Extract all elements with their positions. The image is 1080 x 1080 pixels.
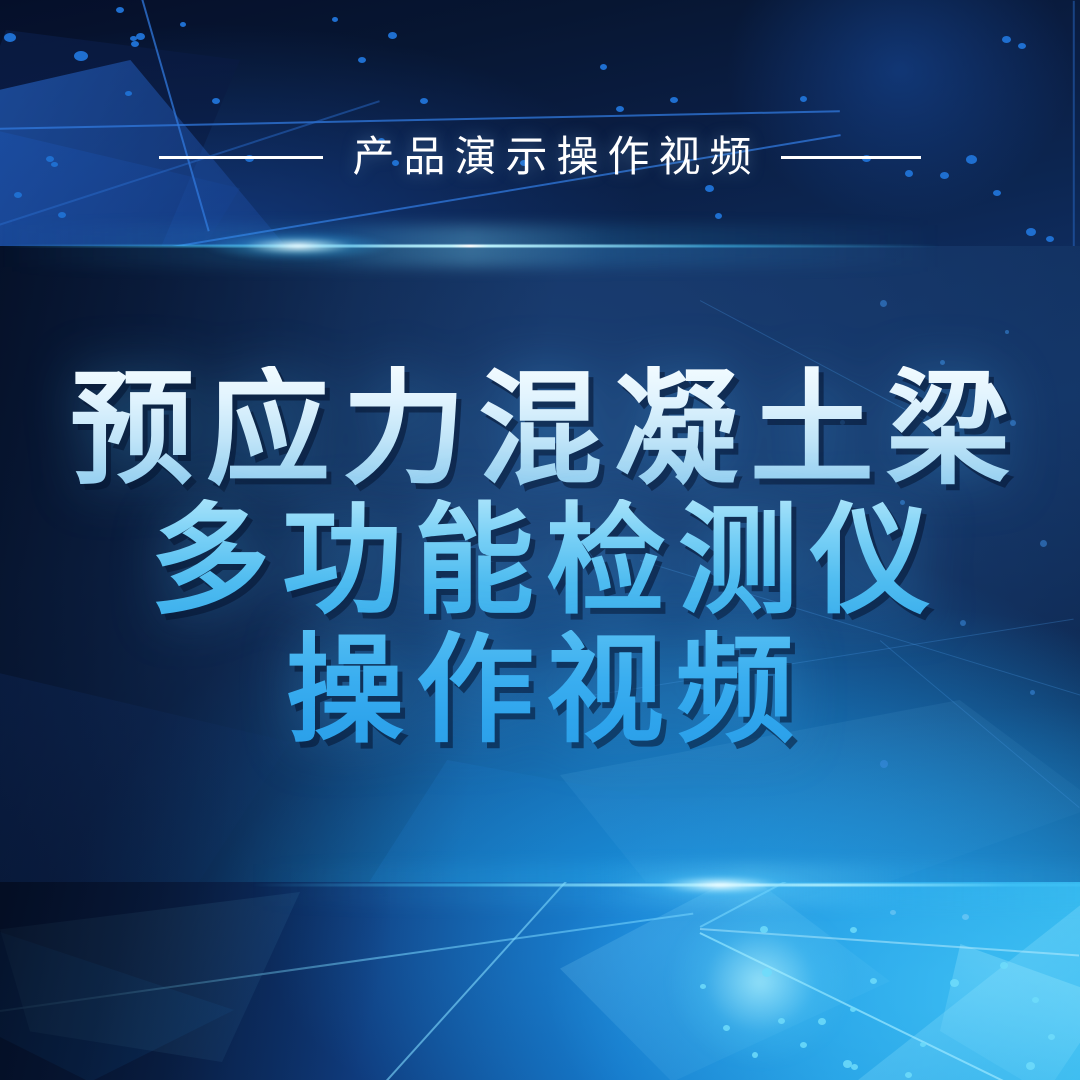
dot xyxy=(752,1052,758,1058)
title-line-1: 预应力混凝土梁 xyxy=(0,366,1080,495)
dot xyxy=(600,64,607,70)
dot xyxy=(1002,36,1011,43)
dot xyxy=(388,32,397,39)
header-title: 产品演示操作视频 xyxy=(343,136,760,178)
dot xyxy=(890,910,896,915)
dot xyxy=(420,98,428,104)
bottom-ray-glow xyxy=(640,882,880,1080)
dot xyxy=(905,1072,912,1078)
poster-canvas: 产品演示操作视频 预应力混凝土梁 多功能检测仪 操作视频 xyxy=(0,0,1080,1080)
dot xyxy=(212,98,220,104)
dot xyxy=(920,1042,926,1047)
dot xyxy=(993,190,1001,196)
dot xyxy=(880,760,888,768)
main-title: 预应力混凝土梁 多功能检测仪 操作视频 xyxy=(0,366,1080,752)
dot xyxy=(116,7,124,13)
dot xyxy=(1048,1034,1055,1040)
header: 产品演示操作视频 xyxy=(0,124,1080,190)
dot xyxy=(616,106,624,112)
dot xyxy=(851,1064,858,1070)
dot xyxy=(358,57,366,63)
dot xyxy=(74,51,88,61)
dot xyxy=(332,17,338,22)
dot xyxy=(800,96,807,102)
dot xyxy=(715,213,722,219)
bottom-band xyxy=(0,882,1080,1080)
title-line-3: 操作视频 xyxy=(0,630,1080,753)
dot xyxy=(1018,43,1026,49)
dot xyxy=(1026,228,1036,236)
dot xyxy=(700,984,706,989)
dot xyxy=(850,1007,856,1012)
dot xyxy=(131,41,139,47)
dot xyxy=(136,33,145,40)
dot xyxy=(670,97,678,103)
header-rule-right xyxy=(781,156,921,159)
title-line-2: 多功能检测仪 xyxy=(0,499,1080,624)
top-band xyxy=(0,0,1080,246)
dot xyxy=(1032,997,1039,1003)
dot xyxy=(1046,236,1054,242)
dot xyxy=(870,978,877,984)
dot xyxy=(14,192,22,198)
dot xyxy=(125,91,132,96)
bottom-left-shadow xyxy=(0,882,390,1080)
dot xyxy=(180,22,186,27)
dot xyxy=(880,300,887,307)
dot xyxy=(762,968,772,977)
dot xyxy=(1005,330,1009,334)
dot xyxy=(800,1042,807,1048)
dot xyxy=(962,914,969,920)
dot xyxy=(1026,1062,1035,1070)
dot xyxy=(1000,962,1008,969)
dot xyxy=(58,212,66,218)
dot xyxy=(723,1025,730,1031)
top-band-glow xyxy=(660,0,1080,246)
dot xyxy=(760,926,768,933)
dot xyxy=(850,927,857,933)
header-rule-left xyxy=(159,156,323,159)
dot xyxy=(4,33,16,42)
dot xyxy=(778,1018,785,1024)
dot xyxy=(818,1018,826,1025)
dot xyxy=(950,979,959,987)
